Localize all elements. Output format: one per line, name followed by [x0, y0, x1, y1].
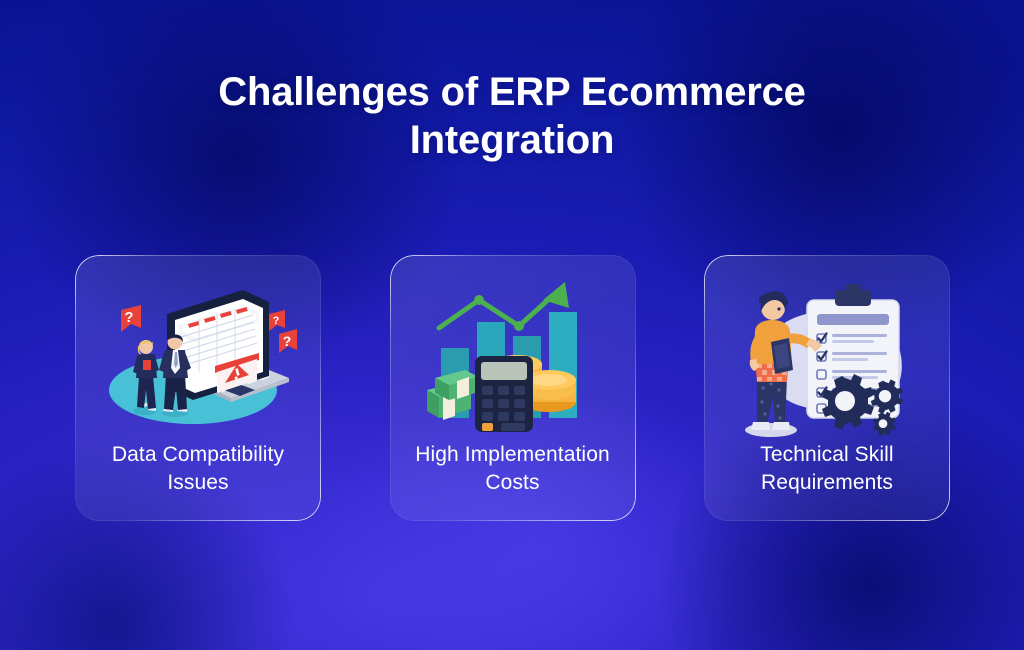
calculator-icon	[475, 356, 533, 432]
challenge-card-implementation-costs[interactable]: High Implementation Costs	[390, 255, 636, 521]
challenge-card-data-compatibility[interactable]: ? ? ?	[75, 255, 321, 521]
data-compatibility-illustration: ? ? ?	[75, 279, 321, 441]
challenge-card-row: ? ? ?	[75, 255, 950, 521]
page-title: Challenges of ERP Ecommerce Integration	[0, 68, 1024, 164]
calculator-equals-key	[482, 423, 493, 431]
card-label: Technical Skill Requirements	[716, 441, 938, 497]
challenge-card-technical-skills[interactable]: Technical Skill Requirements	[704, 255, 950, 521]
data-compatibility-svg: ? ? ?	[93, 280, 303, 440]
svg-text:?: ?	[273, 315, 280, 327]
card-label: Data Compatibility Issues	[87, 441, 309, 497]
high-implementation-costs-illustration	[390, 279, 636, 441]
money-bundle-icon	[427, 370, 479, 420]
technical-skill-requirements-svg	[727, 278, 927, 443]
card-label: High Implementation Costs	[402, 441, 624, 497]
svg-text:?: ?	[283, 333, 292, 349]
high-implementation-costs-svg	[413, 280, 613, 440]
technical-skill-requirements-illustration	[704, 279, 950, 441]
svg-text:?: ?	[124, 309, 133, 326]
